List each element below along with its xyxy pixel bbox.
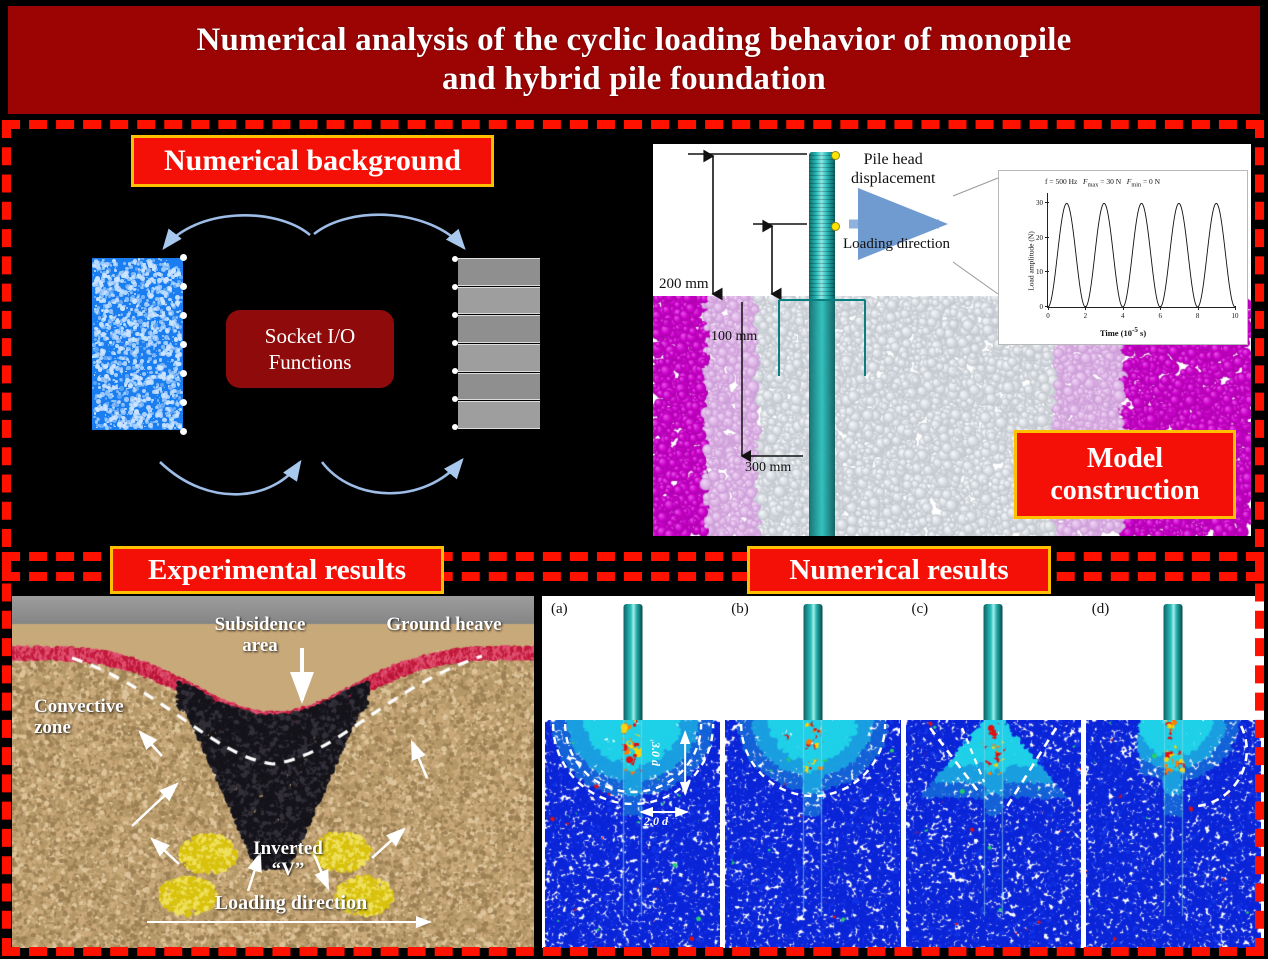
chart-xtick-label: 10 — [1232, 312, 1239, 320]
dim-label-300mm: 300 mm — [745, 460, 791, 476]
chart-xtick-label: 4 — [1121, 312, 1125, 320]
title-line-2: and hybrid pile foundation — [442, 61, 826, 97]
chart-plot-area: 01020300246810 — [1047, 193, 1235, 308]
label-inverted-v: Inverted “V” — [228, 838, 348, 881]
panel-tag-c: (c) — [912, 601, 929, 618]
cyclic-load-chart: f = 500 Hz Fmax = 30 N Fmin = 0 N Load a… — [998, 170, 1248, 345]
numerical-panel-b: (b) — [725, 596, 900, 948]
coupling-arrows — [60, 200, 580, 530]
chart-series-line — [1048, 193, 1235, 307]
influence-zone-b — [725, 720, 900, 948]
chart-ytick-mark — [1045, 237, 1049, 238]
label-ground-heave: Ground heave — [364, 614, 524, 635]
chart-xtick-mark — [1123, 306, 1124, 310]
influence-zone-c — [906, 720, 1081, 948]
soil-field-b — [725, 720, 900, 948]
influence-zone-d — [1086, 720, 1261, 948]
page-title: Numerical analysis of the cyclic loading… — [176, 21, 1091, 99]
section-label-model-construction: Model construction — [1014, 430, 1236, 519]
pile-d — [1164, 604, 1183, 724]
pile-a — [623, 604, 642, 724]
soil-field-c — [906, 720, 1081, 948]
chart-annotation: f = 500 Hz Fmax = 30 N Fmin = 0 N — [1045, 177, 1160, 189]
influence-zone-a — [545, 720, 720, 948]
chart-ytick-mark — [1045, 202, 1049, 203]
numerical-panel-d: (d) — [1086, 596, 1261, 948]
numerical-panel-c: (c) — [906, 596, 1081, 948]
numerical-results-panel: (a) — [542, 596, 1264, 948]
label-subsidence-area: Subsidence area — [190, 614, 330, 657]
chart-xtick-mark — [1235, 306, 1236, 310]
numerical-background-diagram: Socket I/O Functions — [60, 200, 580, 530]
panel-tag-a: (a) — [551, 601, 568, 618]
pile-c — [984, 604, 1003, 724]
section-label-experimental-results: Experimental results — [110, 546, 444, 594]
annotation-width-2d: 2.0 d — [644, 814, 668, 829]
pile-head-displacement-label: Pile head displacement — [851, 150, 935, 188]
chart-xtick-mark — [1085, 306, 1086, 310]
chart-xtick-mark — [1048, 306, 1049, 310]
section-label-numerical-background: Numerical background — [131, 135, 494, 187]
section-label-numerical-results: Numerical results — [747, 546, 1051, 594]
chart-xtick-label: 8 — [1196, 312, 1200, 320]
chart-xtick-mark — [1198, 306, 1199, 310]
soil-field-d — [1086, 720, 1261, 948]
panel-tag-b: (b) — [731, 601, 749, 618]
poster-title-banner: Numerical analysis of the cyclic loading… — [8, 6, 1260, 114]
chart-x-axis-label: Time (10-5 s) — [999, 326, 1247, 338]
chart-xtick-label: 2 — [1084, 312, 1088, 320]
chart-ytick-label: 20 — [1036, 234, 1043, 242]
label-convective-zone: Convective zone — [34, 696, 156, 739]
loading-direction-label: Loading direction — [843, 236, 950, 253]
annotation-depth-3d: 3.0 d — [648, 742, 663, 766]
panel-tag-d: (d) — [1092, 601, 1110, 618]
chart-xtick-label: 6 — [1158, 312, 1162, 320]
chart-ytick-label: 0 — [1040, 303, 1044, 311]
pile-b — [803, 604, 822, 724]
numerical-panel-a: (a) — [545, 596, 720, 948]
chart-ytick-label: 10 — [1036, 268, 1043, 276]
poster-root: Numerical analysis of the cyclic loading… — [0, 0, 1268, 959]
chart-xtick-mark — [1160, 306, 1161, 310]
chart-ytick-label: 30 — [1036, 199, 1043, 207]
chart-xtick-label: 0 — [1046, 312, 1050, 320]
title-line-1: Numerical analysis of the cyclic loading… — [196, 22, 1071, 58]
dim-label-100mm: 100 mm — [711, 329, 757, 345]
chart-y-axis-label: Load amplitude (N) — [1026, 231, 1035, 291]
soil-field-a: 3.0 d 2.0 d — [545, 720, 720, 948]
experimental-photo: Subsidence area Ground heave Convective … — [12, 596, 534, 948]
chart-ytick-mark — [1045, 271, 1049, 272]
dim-label-200mm: 200 mm — [659, 276, 709, 293]
label-loading-direction: Loading direction — [178, 892, 404, 914]
